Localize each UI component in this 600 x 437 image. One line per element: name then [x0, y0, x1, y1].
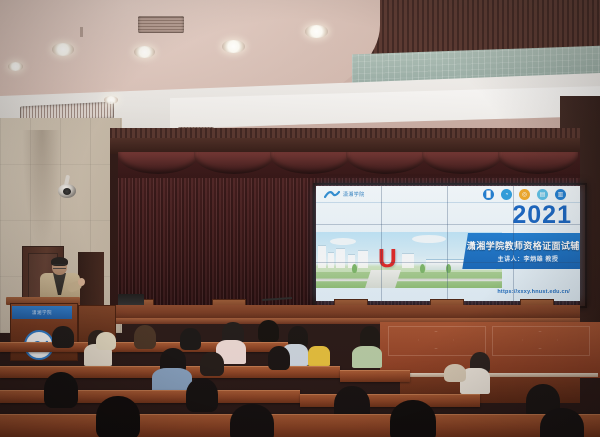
audience-member	[134, 325, 156, 349]
audience-member-foreground	[230, 404, 274, 437]
school-logo-text: 潇湘学院	[343, 191, 365, 198]
desk-row	[340, 370, 410, 382]
podium-banner: 潇湘学院	[12, 306, 72, 319]
audience-member-hat	[96, 332, 116, 350]
audience-member	[360, 326, 380, 348]
wall-stain	[22, 130, 62, 250]
book-icon: ▥	[555, 189, 566, 200]
slide-icon-row: █ ◔ ◎ ▤ ▥	[483, 189, 566, 200]
audience-member	[258, 320, 279, 342]
podium-banner-text: 潇湘学院	[32, 310, 52, 316]
slide-year: 2021	[512, 203, 572, 228]
audience-member	[44, 372, 78, 408]
glasses-icon	[53, 264, 66, 269]
audience-member-foreground	[96, 396, 140, 437]
ceiling-sensor-icon	[80, 27, 83, 37]
ceiling-vent	[138, 16, 184, 33]
audience-member-bag	[444, 364, 466, 382]
audience-member-foreground	[390, 400, 436, 437]
audience-member	[52, 326, 74, 348]
audience-member	[180, 328, 201, 350]
bar-chart-icon: █	[483, 189, 494, 200]
pie-chart-icon: ◔	[501, 189, 512, 200]
audience-member	[200, 352, 224, 376]
curtain-valance	[118, 152, 580, 178]
presentation-slide: 潇湘学院 █ ◔ ◎ ▤ ▥ 2021	[316, 186, 580, 301]
audience-member-body	[352, 346, 382, 368]
stage-table	[108, 305, 580, 319]
ceiling-downlight	[104, 96, 118, 104]
slide-url: https://xxxy.hnust.edu.cn/	[497, 289, 570, 295]
ceiling-downlight	[52, 43, 74, 56]
audience-member	[268, 346, 290, 370]
ceiling-camera-icon	[58, 175, 76, 199]
ceiling-downlight	[8, 62, 23, 71]
lecture-hall-photo: 潇湘学院 █ ◔ ◎ ▤ ▥ 2021	[0, 0, 600, 437]
document-icon: ▤	[537, 189, 548, 200]
slide-logo: 潇湘学院	[324, 189, 365, 199]
audience-member-body	[308, 346, 330, 366]
desk-row-front	[0, 414, 600, 437]
ceiling-downlight	[222, 40, 245, 53]
audience-back-wall	[380, 322, 600, 378]
slide-title: 潇湘学院教师资格证面试辅导	[467, 239, 580, 252]
school-logo-icon	[324, 189, 340, 199]
search-icon: ◎	[519, 189, 530, 200]
slide-presenter: 主讲人：李炳雄 教授	[498, 254, 559, 263]
audience-member-foreground	[540, 408, 584, 437]
slide-title-block: 潇湘学院教师资格证面试辅导 主讲人：李炳雄 教授	[472, 235, 580, 267]
led-video-wall[interactable]: 潇湘学院 █ ◔ ◎ ▤ ▥ 2021	[316, 186, 580, 301]
ceiling-downlight	[305, 25, 328, 38]
monument-letter: U	[378, 245, 397, 271]
audience-member	[186, 378, 218, 412]
ceiling-downlight	[134, 46, 155, 58]
desk-row	[300, 394, 480, 407]
